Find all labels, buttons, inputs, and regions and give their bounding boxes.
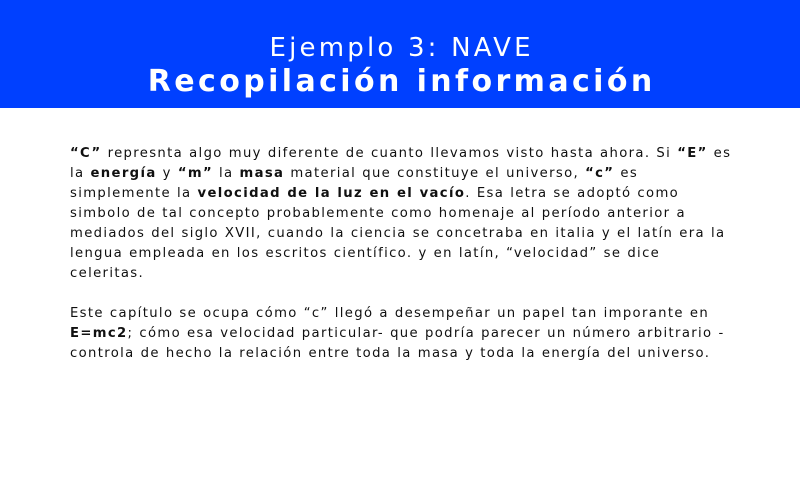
emphasis-run: “C” bbox=[70, 146, 102, 161]
emphasis-run: “c” bbox=[585, 166, 614, 181]
emphasis-run: “m” bbox=[178, 166, 213, 181]
body-paragraph-2: Este capítulo se ocupa cómo “c” llegó a … bbox=[70, 304, 738, 364]
slide: Ejemplo 3: NAVE Recopilación información… bbox=[0, 0, 800, 500]
text-run: y bbox=[157, 166, 178, 181]
body-paragraph-1: “C” represnta algo muy diferente de cuan… bbox=[70, 144, 738, 284]
text-run: la bbox=[213, 166, 240, 181]
emphasis-run: velocidad de la luz en el vacío bbox=[198, 186, 466, 201]
emphasis-run: E=mc2 bbox=[70, 326, 128, 341]
emphasis-run: energía bbox=[91, 166, 157, 181]
emphasis-run: “E” bbox=[677, 146, 707, 161]
slide-title-line-2: Recopilación información bbox=[144, 64, 655, 100]
slide-title-line-1: Ejemplo 3: NAVE bbox=[266, 33, 533, 63]
text-run: represnta algo muy diferente de cuanto l… bbox=[102, 146, 678, 161]
emphasis-run: masa bbox=[240, 166, 285, 181]
slide-header-band: Ejemplo 3: NAVE Recopilación información bbox=[0, 0, 800, 108]
text-run: material que constituye el universo, bbox=[284, 166, 585, 181]
text-run: Este capítulo se ocupa cómo “c” llegó a … bbox=[70, 306, 709, 321]
text-run: ; cómo esa velocidad particular- que pod… bbox=[70, 326, 725, 361]
slide-body: “C” represnta algo muy diferente de cuan… bbox=[70, 144, 738, 364]
